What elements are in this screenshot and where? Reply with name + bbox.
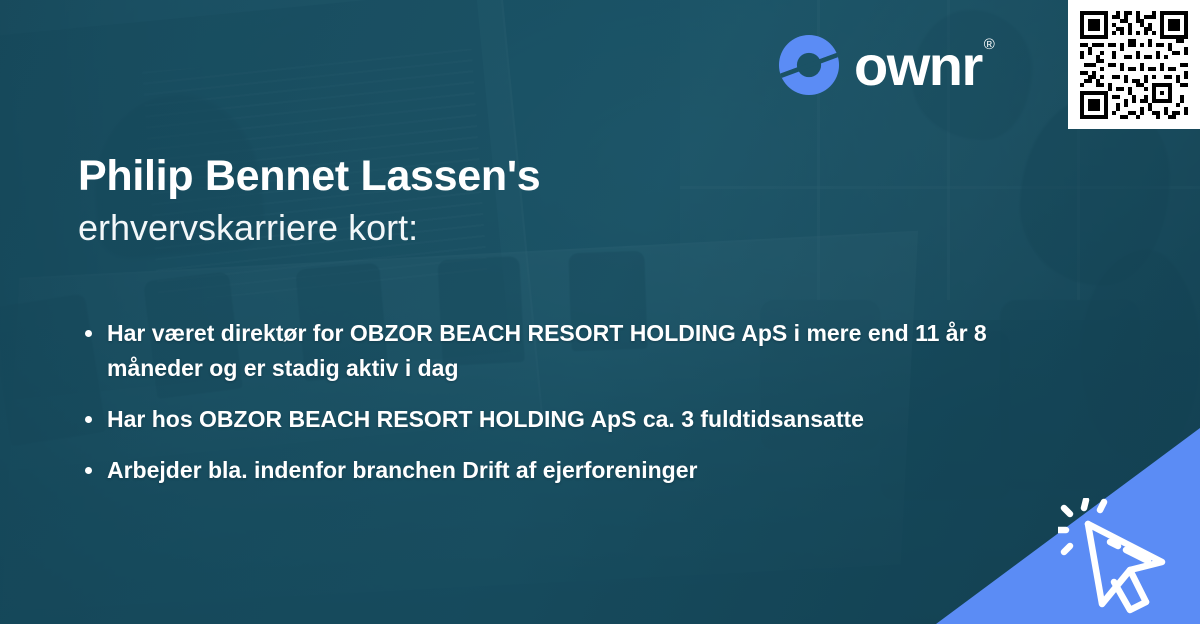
list-item: Har været direktør for OBZOR BEACH RESOR… [80,316,1080,386]
list-item-text: Har hos OBZOR BEACH RESORT HOLDING ApS c… [107,406,864,432]
bullet-dot-icon [85,330,92,337]
list-item-text: Har været direktør for OBZOR BEACH RESOR… [107,320,987,381]
registered-trademark-icon: ® [984,36,995,53]
ownr-circle-logo-icon [778,34,840,96]
list-item: Arbejder bla. indenfor branchen Drift af… [80,453,1080,488]
background-gradient-tint [0,0,1200,624]
ownr-logo: ownr® [778,34,993,96]
page-title: Philip Bennet Lassen's erhvervskarriere … [78,152,978,249]
click-cursor-icon [1058,498,1186,618]
ownr-career-card: ownr® [0,0,1200,624]
page-subtitle: erhvervskarriere kort: [78,206,978,249]
person-name: Philip Bennet Lassen's [78,152,978,200]
list-item-text: Arbejder bla. indenfor branchen Drift af… [107,457,697,483]
bullet-dot-icon [85,416,92,423]
ownr-wordmark-text: ownr [854,34,982,97]
list-item: Har hos OBZOR BEACH RESORT HOLDING ApS c… [80,402,1080,437]
career-facts-list: Har været direktør for OBZOR BEACH RESOR… [80,316,1080,488]
background-office-photo [0,0,1200,624]
ownr-wordmark: ownr® [854,38,993,94]
qr-code[interactable] [1068,0,1200,129]
bullet-dot-icon [85,467,92,474]
